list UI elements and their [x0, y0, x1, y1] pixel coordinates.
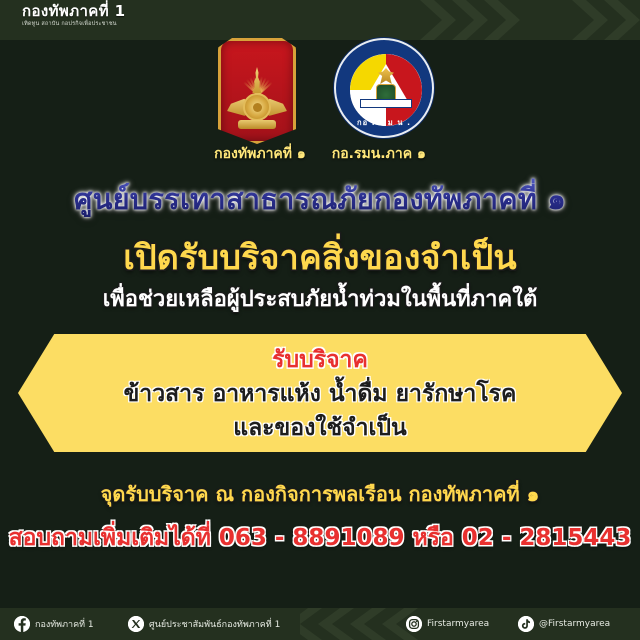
social-link-instagram[interactable]: Firstarmyarea — [406, 616, 489, 632]
social-footer-bar: กองทัพภาคที่ 1 ศูนย์ประชาสัมพันธ์กองทัพภ… — [0, 608, 640, 640]
topbar-title: กองทัพภาคที่ 1 — [22, 3, 125, 20]
emblem-first-army — [204, 36, 312, 154]
social-link-tiktok[interactable]: @Firstarmyarea — [518, 616, 610, 632]
purpose-subtitle: เพื่อช่วยเหลือผู้ประสบภัยน้ำท่วมในพื้นที… — [0, 281, 640, 316]
dropoff-location-text: จุดรับบริจาค ณ กองกิจการพลเรือน กองทัพภา… — [0, 478, 640, 510]
emblem-isoc: กอ . ร ม น . — [328, 36, 436, 154]
donation-items-line-2: และของใช้จำเป็น — [18, 410, 622, 446]
topbar-subtitle: เทิดทูน สถาบัน กอปรกิจเพื่อประชาชน — [22, 20, 117, 28]
x-handle: ศูนย์ประชาสัมพันธ์กองทัพภาคที่ 1 — [149, 617, 280, 631]
donation-items-panel: รับบริจาค ข้าวสาร อาหารแห้ง น้ำดื่ม ยารั… — [18, 334, 622, 452]
relief-center-title: ศูนย์บรรเทาสาธารณภัยกองทัพภาคที่ ๑ — [0, 176, 640, 222]
emblem-base-icon — [238, 120, 276, 129]
contact-phone-text: สอบถามเพิ่มเติมได้ที่ 063 - 8891089 หรือ… — [0, 520, 640, 556]
caption-isoc: กอ.รมน.ภาค ๑ — [332, 143, 426, 165]
facebook-icon — [14, 616, 30, 632]
social-link-x[interactable]: ศูนย์ประชาสัมพันธ์กองทัพภาคที่ 1 — [128, 616, 280, 632]
isoc-motto-bar — [360, 99, 412, 108]
donation-items-line-1: ข้าวสาร อาหารแห้ง น้ำดื่ม ยารักษาโรค — [18, 376, 622, 412]
tiktok-handle: @Firstarmyarea — [539, 619, 610, 629]
facebook-handle: กองทัพภาคที่ 1 — [35, 617, 94, 631]
chevron-pattern-top — [220, 0, 640, 40]
donation-panel-heading: รับบริจาค — [18, 342, 622, 378]
call-to-action-title: เปิดรับบริจาคสิ่งของจำเป็น — [0, 230, 640, 284]
royal-crest-shield-emblem — [218, 38, 296, 144]
caption-first-army: กองทัพภาคที่ ๑ — [214, 143, 306, 165]
poster-canvas: กองทัพภาคที่ 1 เทิดทูน สถาบัน กอปรกิจเพื… — [0, 0, 640, 640]
top-brand-bar: กองทัพภาคที่ 1 เทิดทูน สถาบัน กอปรกิจเพื… — [0, 0, 640, 40]
tiktok-icon — [518, 616, 534, 632]
social-links: กองทัพภาคที่ 1 ศูนย์ประชาสัมพันธ์กองทัพภ… — [0, 608, 640, 640]
social-link-facebook[interactable]: กองทัพภาคที่ 1 — [14, 616, 94, 632]
isoc-circular-emblem: กอ . ร ม น . — [334, 38, 434, 138]
instagram-icon — [406, 616, 422, 632]
emblem-caption-row: กองทัพภาคที่ ๑ กอ.รมน.ภาค ๑ — [0, 143, 640, 165]
chakra-wheel-icon — [243, 93, 271, 121]
isoc-bottom-label: กอ . ร ม น . — [336, 117, 432, 129]
x-twitter-icon — [128, 616, 144, 632]
instagram-handle: Firstarmyarea — [427, 619, 489, 629]
